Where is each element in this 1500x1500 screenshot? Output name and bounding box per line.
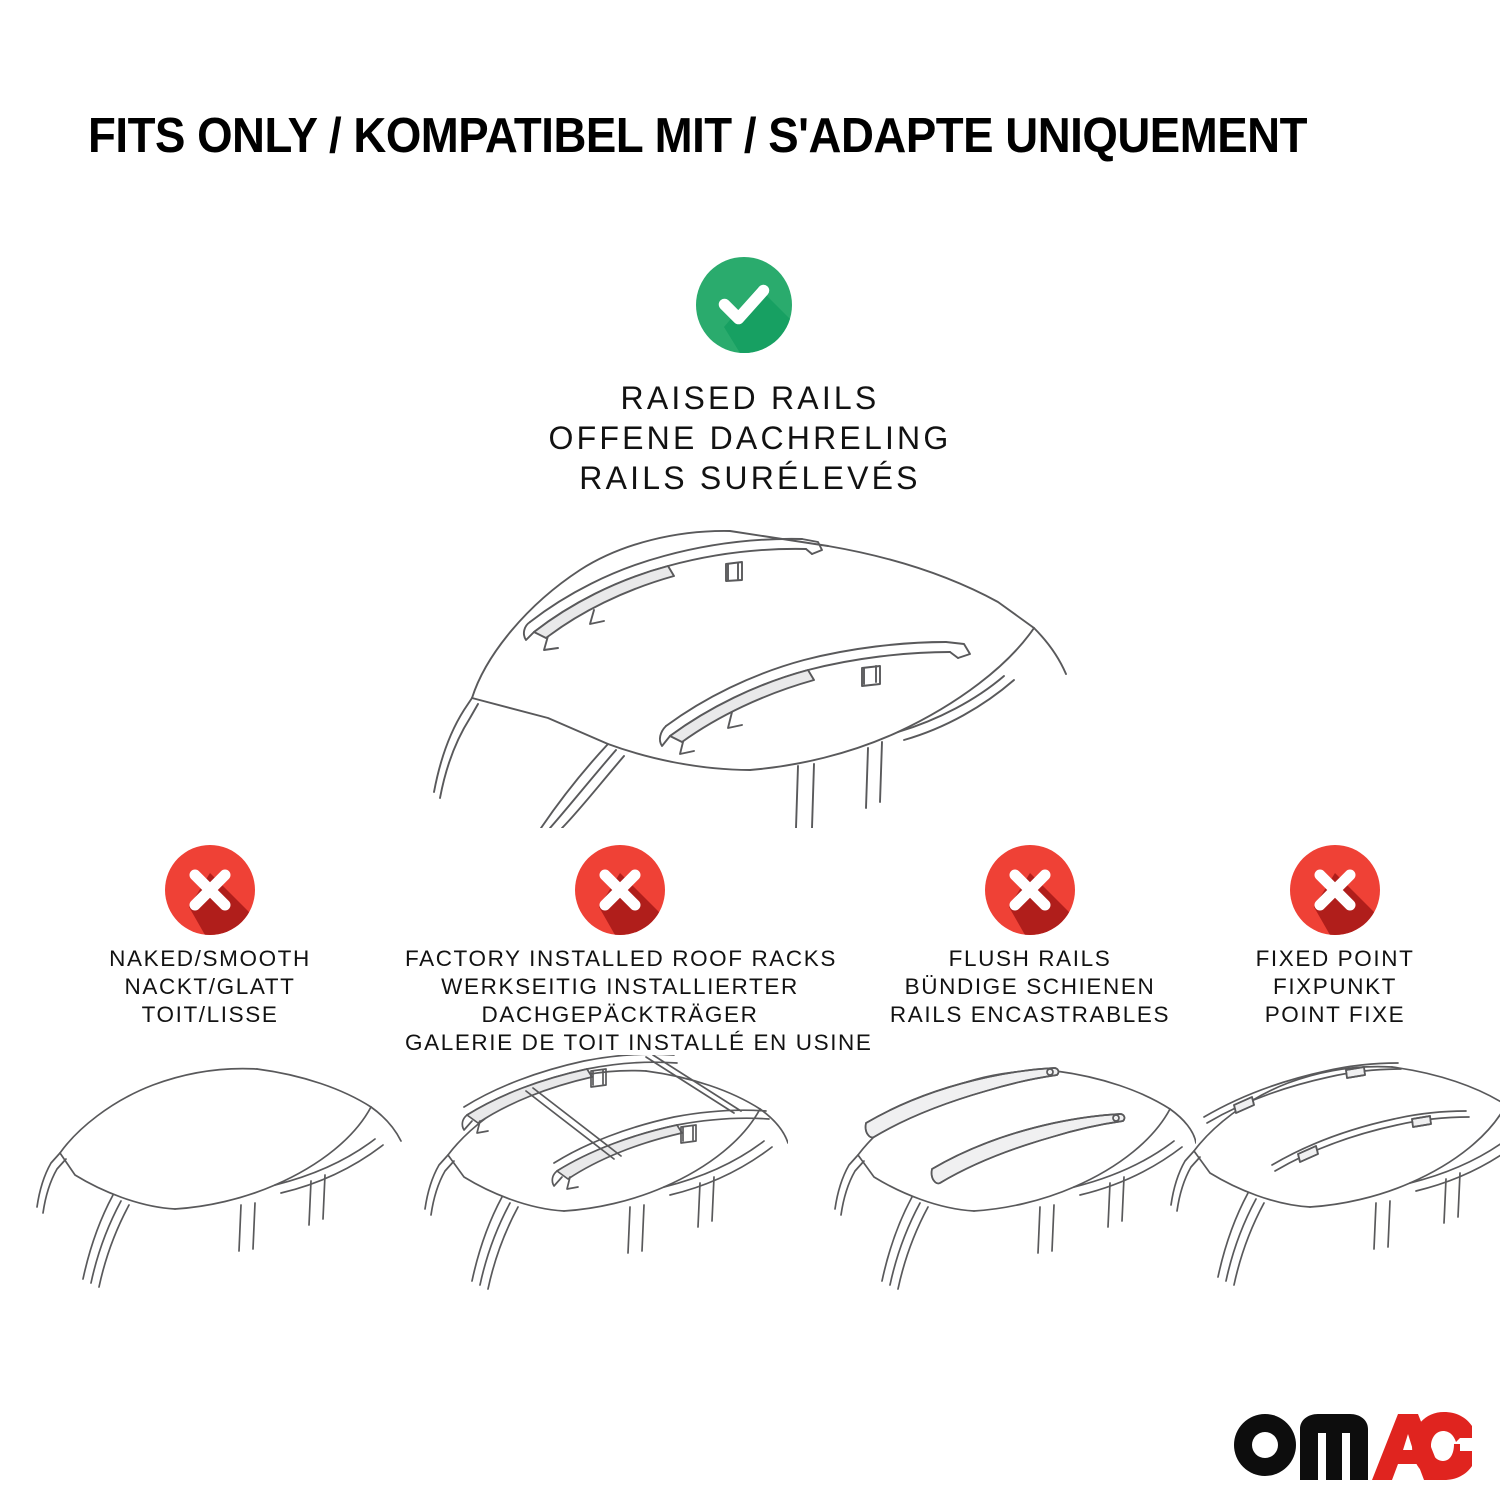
incompatible-labels-1: NAKED/SMOOTH NACKT/GLATT TOIT/LISSE — [45, 945, 375, 1029]
car-roof-factory-roof-racks-illustration — [418, 1055, 788, 1310]
label-4-fr: POINT FIXE — [1185, 1001, 1485, 1029]
incompatible-labels-2: FACTORY INSTALLED ROOF RACKS WERKSEITIG … — [405, 945, 835, 1057]
label-4-en: FIXED POINT — [1185, 945, 1485, 973]
label-2-fr: GALERIE DE TOIT INSTALLÉ EN USINE — [405, 1029, 835, 1057]
label-4-de: FIXPUNKT — [1185, 973, 1485, 1001]
fitment-infographic: FITS ONLY / KOMPATIBEL MIT / S'ADAPTE UN… — [0, 0, 1500, 1500]
x-circle-icon — [1290, 845, 1380, 935]
car-roof-fixed-point-illustration — [1160, 1055, 1500, 1310]
label-1-fr: TOIT/LISSE — [45, 1001, 375, 1029]
page-title: FITS ONLY / KOMPATIBEL MIT / S'ADAPTE UN… — [88, 108, 1325, 164]
compatible-label-en: RAISED RAILS — [375, 378, 1125, 418]
label-1-de: NACKT/GLATT — [45, 973, 375, 1001]
compatible-labels: RAISED RAILS OFFENE DACHRELING RAILS SUR… — [375, 378, 1125, 498]
label-3-de: BÜNDIGE SCHIENEN — [855, 973, 1205, 1001]
compatible-label-de: OFFENE DACHRELING — [375, 418, 1125, 458]
label-3-en: FLUSH RAILS — [855, 945, 1205, 973]
car-roof-flush-rails-illustration — [826, 1055, 1196, 1310]
check-circle-icon — [696, 257, 792, 353]
car-roof-with-raised-rails-illustration — [398, 508, 1104, 828]
x-circle-icon — [575, 845, 665, 935]
label-2-de-2: DACHGEPÄCKTRÄGER — [405, 1001, 835, 1029]
label-2-en: FACTORY INSTALLED ROOF RACKS — [405, 945, 835, 973]
x-circle-icon — [985, 845, 1075, 935]
x-circle-icon — [165, 845, 255, 935]
label-2-de-1: WERKSEITIG INSTALLIERTER — [405, 973, 835, 1001]
compatible-label-fr: RAILS SURÉLEVÉS — [375, 458, 1125, 498]
omac-logo — [1232, 1404, 1472, 1480]
label-1-en: NAKED/SMOOTH — [45, 945, 375, 973]
label-3-fr: RAILS ENCASTRABLES — [855, 1001, 1205, 1029]
incompatible-labels-3: FLUSH RAILS BÜNDIGE SCHIENEN RAILS ENCAS… — [855, 945, 1205, 1029]
incompatible-labels-4: FIXED POINT FIXPUNKT POINT FIXE — [1185, 945, 1485, 1029]
car-roof-naked-smooth-illustration — [35, 1055, 405, 1310]
